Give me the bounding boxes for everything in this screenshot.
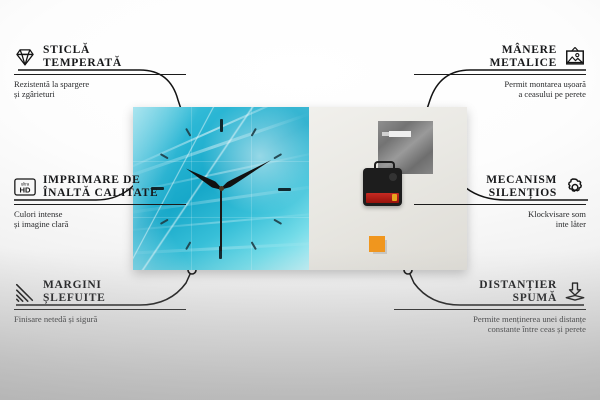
feature-title-line1: IMPRIMARE DE — [43, 174, 158, 187]
ultra-hd-icon: ultra HD — [14, 176, 36, 198]
feature-mecanism-silentios: MECANISM SILENȚIOS Klockvisare som inte … — [414, 174, 586, 230]
diamond-icon — [14, 46, 36, 68]
feature-subtitle-line2: a ceasului pe perete — [414, 89, 586, 99]
divider — [414, 204, 586, 205]
feature-title-line1: MÂNERE — [490, 44, 557, 57]
arrow-down-pad-icon — [564, 281, 586, 303]
divider — [14, 309, 186, 310]
divider — [14, 204, 186, 205]
feature-title-line1: DISTANȚIER — [479, 279, 557, 292]
clock-mechanism — [363, 168, 402, 206]
feature-subtitle-line1: Finisare netedă și sigură — [14, 314, 186, 324]
divider — [394, 309, 586, 310]
feature-subtitle-line1: Rezistentă la spargere — [14, 79, 186, 89]
picture-frame-hanger-icon — [564, 46, 586, 68]
feature-distantier-spuma: DISTANȚIER SPUMĂ Permite menținerea unei… — [394, 279, 586, 335]
feature-title-line1: MARGINI — [43, 279, 105, 292]
feature-title-line2: ȘLEFUITE — [43, 292, 105, 305]
feature-title-line2: SPUMĂ — [479, 292, 557, 305]
feature-subtitle-line1: Culori intense — [14, 209, 186, 219]
feature-subtitle-line1: Klockvisare som — [414, 209, 586, 219]
mechanism-knob — [389, 173, 397, 181]
feature-manere-metalice: MÂNERE METALICE Permit montarea ușoară a… — [414, 44, 586, 100]
feature-sticla-temperata: STICLĂ TEMPERATĂ Rezistentă la spargere … — [14, 44, 186, 100]
divider — [14, 74, 186, 75]
infographic-canvas: STICLĂ TEMPERATĂ Rezistentă la spargere … — [0, 0, 600, 400]
clock-tick — [220, 119, 222, 189]
feature-subtitle-line2: constante între ceas și perete — [394, 324, 586, 334]
gear-icon — [564, 176, 586, 198]
feature-subtitle-line2: și zgârieturi — [14, 89, 186, 99]
feature-subtitle-line2: și imagine clară — [14, 219, 186, 229]
feature-imprimare-inalta-calitate: ultra HD IMPRIMARE DE ÎNALTĂ CALITATE Cu… — [14, 174, 186, 230]
battery — [366, 193, 399, 203]
feature-title-line2: METALICE — [490, 57, 557, 70]
feature-subtitle-line1: Permit montarea ușoară — [414, 79, 586, 89]
ultra-hd-icon-large-text: HD — [20, 186, 31, 195]
hanger-slot — [389, 131, 411, 137]
feature-title-line2: SILENȚIOS — [486, 187, 557, 200]
second-hand — [220, 189, 222, 251]
mechanism-loop — [374, 161, 395, 173]
feature-title-line2: ÎNALTĂ CALITATE — [43, 187, 158, 200]
feature-title-line1: MECANISM — [486, 174, 557, 187]
feature-subtitle-line1: Permite menținerea unei distanțe — [394, 314, 586, 324]
feature-subtitle-line2: inte låter — [414, 219, 586, 229]
divider — [414, 74, 586, 75]
feature-title-line1: STICLĂ — [43, 44, 122, 57]
clock-tick — [221, 188, 291, 190]
feature-margini-slefuite: MARGINI ȘLEFUITE Finisare netedă și sigu… — [14, 279, 186, 324]
foam-spacer — [369, 236, 385, 252]
diagonal-lines-icon — [14, 281, 36, 303]
feature-title-line2: TEMPERATĂ — [43, 57, 122, 70]
clock-hub — [219, 186, 224, 191]
